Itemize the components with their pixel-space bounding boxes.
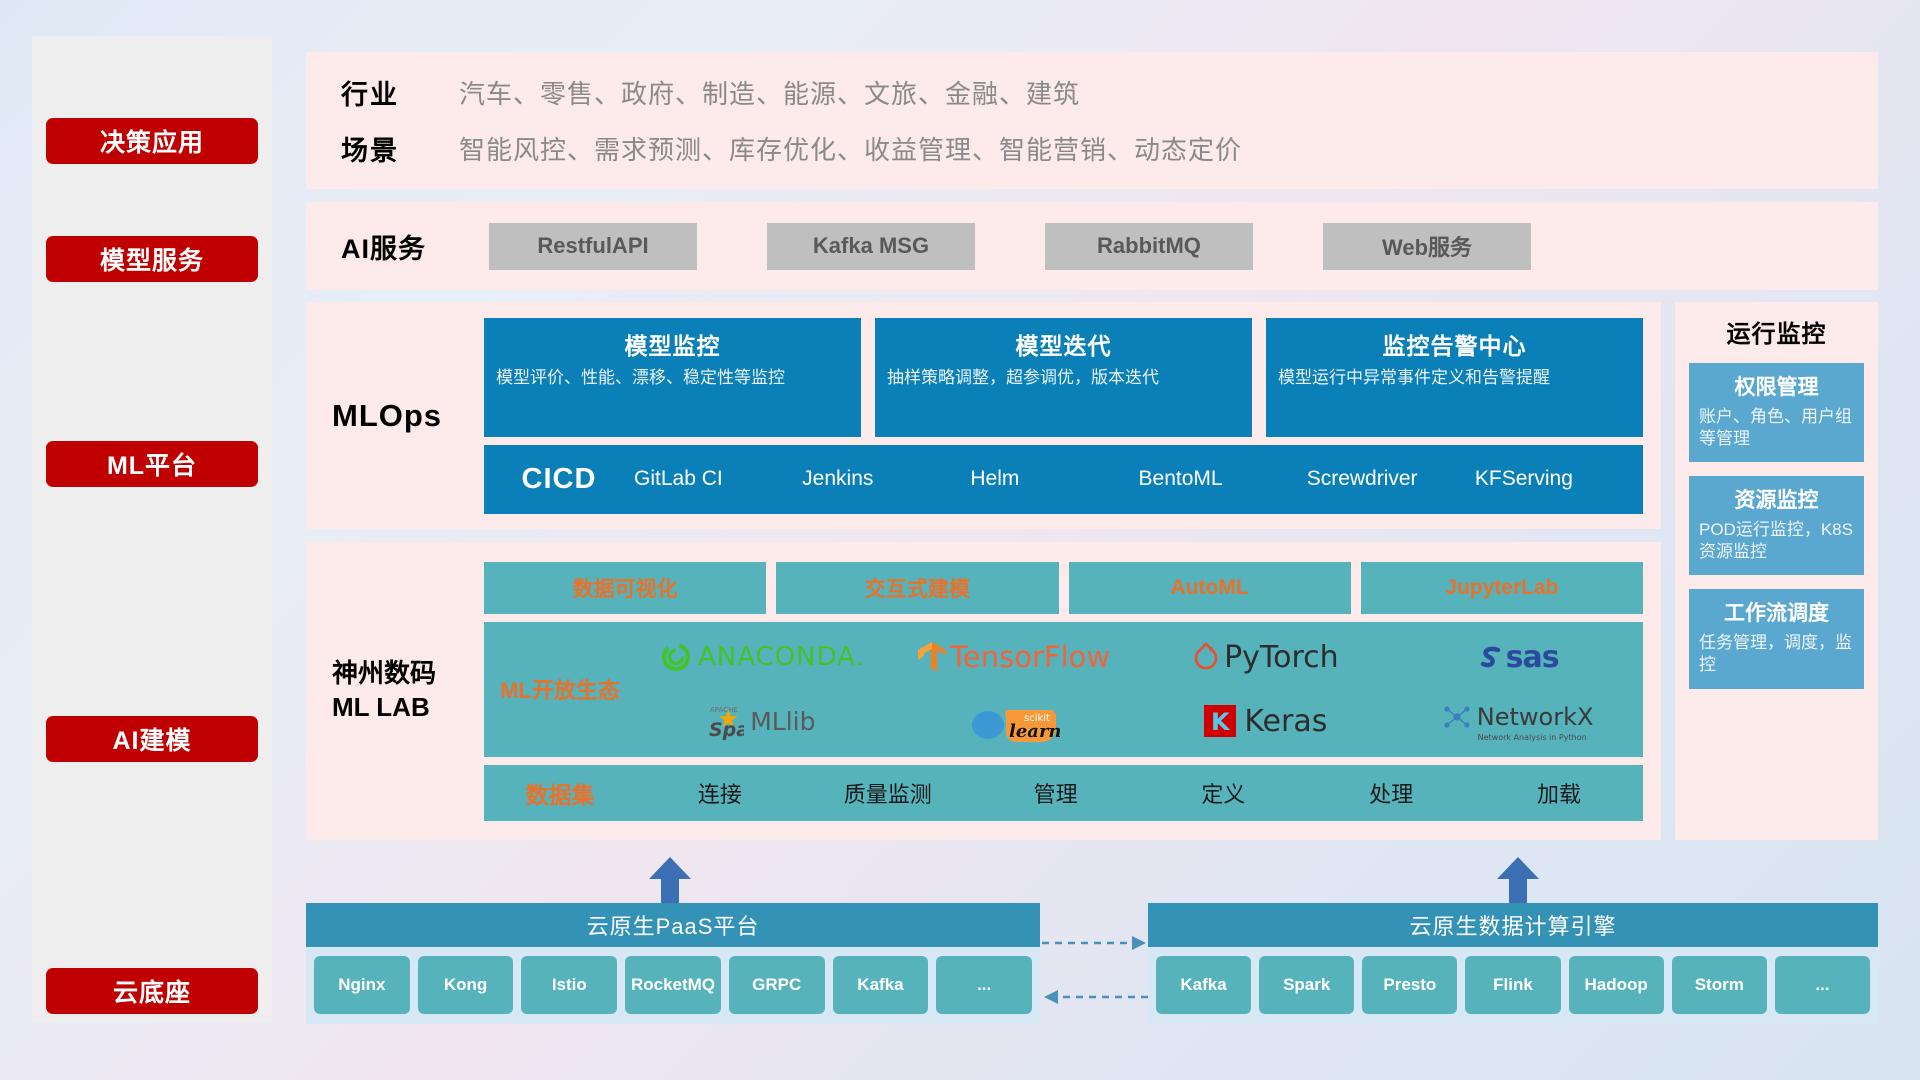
dataset-item[interactable]: 加载 [1475,777,1643,809]
ml-ecosystem-row: ML开放生态 ANACONDA. TensorFlow [484,622,1643,757]
mlops-card-title: 模型监控 [496,327,849,361]
dataset-item[interactable]: 定义 [1139,777,1307,809]
svg-text:APACHE: APACHE [710,706,738,714]
bidirectional-dashed-arrows [1040,925,1150,1025]
ml-ecosystem-logos: ANACONDA. TensorFlow PyTorch sas [636,626,1643,752]
stage-pill-decision[interactable]: 决策应用 [46,118,258,164]
ai-service-chip[interactable]: RabbitMQ [1045,223,1253,270]
decision-application-band: 行业 汽车、零售、政府、制造、能源、文旅、金融、建筑 场景 智能风控、需求预测、… [306,52,1878,189]
tensorflow-logo: TensorFlow [888,626,1140,688]
sas-logo-text: sas [1506,640,1559,675]
cloud-paas-chip-list: Nginx Kong Istio RocketMQ GRPC Kafka ... [306,947,1040,1024]
cicd-tool[interactable]: BentoML [1139,467,1307,491]
cicd-tool[interactable]: Screwdriver [1307,467,1475,491]
mlops-card-desc: 抽样策略调整，超参调优，版本迭代 [887,367,1240,390]
networkx-logo-text: NetworkX [1477,703,1594,731]
cloud-compute-chip-list: Kafka Spark Presto Flink Hadoop Storm ..… [1148,947,1878,1024]
cloud-paas-title: 云原生PaaS平台 [306,903,1040,947]
logo-line-bottom: APACHE Spark MLlib scikit learn [636,690,1643,752]
cloud-chip[interactable]: Storm [1672,956,1767,1014]
cloud-chip[interactable]: ... [936,956,1032,1014]
cicd-label: CICD [484,463,634,496]
stage-pill-ml-platform[interactable]: ML平台 [46,441,258,487]
anaconda-logo-text: ANACONDA. [698,642,865,672]
cloud-chip[interactable]: Istio [521,956,617,1014]
scenario-value: 智能风控、需求预测、库存优化、收益管理、智能营销、动态定价 [459,130,1242,167]
cloud-paas-platform: 云原生PaaS平台 Nginx Kong Istio RocketMQ GRPC… [306,903,1040,1024]
ml-lab-label: 神州数码 ML LAB [332,657,484,725]
keras-logo: K Keras [1140,690,1392,752]
svg-text:Spark: Spark [709,719,744,741]
monitor-card-title: 权限管理 [1699,371,1854,401]
lab-tool-list: 数据可视化 交互式建模 AutoML JupyterLab [484,562,1643,614]
cloud-chip[interactable]: Nginx [314,956,410,1014]
monitor-card-desc: 任务管理，调度，监控 [1699,632,1854,676]
lab-tool[interactable]: 数据可视化 [484,562,766,614]
cloud-chip[interactable]: Hadoop [1569,956,1664,1014]
cicd-tool[interactable]: KFServing [1475,467,1643,491]
mllib-logo-text: MLlib [750,707,815,736]
cloud-data-compute-engine: 云原生数据计算引擎 Kafka Spark Presto Flink Hadoo… [1148,903,1878,1024]
mlops-card[interactable]: 模型迭代 抽样策略调整，超参调优，版本迭代 [875,318,1252,437]
mlops-card-list: 模型监控 模型评价、性能、漂移、稳定性等监控 模型迭代 抽样策略调整，超参调优，… [484,318,1643,437]
cloud-chip[interactable]: Kafka [1156,956,1251,1014]
stage-pill-label: AI建模 [112,721,191,757]
cicd-tool[interactable]: Jenkins [802,467,970,491]
runtime-monitor-title: 运行监控 [1689,314,1864,349]
ml-lab-label-line1: 神州数码 [332,657,484,691]
lab-tool[interactable]: AutoML [1069,562,1351,614]
networkx-logo: NetworkX Network Analysis in Python [1391,690,1643,752]
stage-pill-label: 云底座 [113,973,191,1009]
scenario-row: 场景 智能风控、需求预测、库存优化、收益管理、智能营销、动态定价 [341,121,1878,177]
monitor-card[interactable]: 权限管理 账户、角色、用户组等管理 [1689,363,1864,462]
mlops-card-desc: 模型评价、性能、漂移、稳定性等监控 [496,367,849,390]
logo-line-top: ANACONDA. TensorFlow PyTorch sas [636,626,1643,688]
sas-logo: sas [1391,626,1643,688]
dataset-item[interactable]: 管理 [972,777,1140,809]
stage-pill-cloud-base[interactable]: 云底座 [46,968,258,1014]
networkx-logo-tagline: Network Analysis in Python [1478,733,1587,742]
anaconda-logo: ANACONDA. [636,626,888,688]
lab-tool[interactable]: 交互式建模 [776,562,1058,614]
dataset-item[interactable]: 连接 [636,777,804,809]
monitor-card-title: 工作流调度 [1699,597,1854,627]
cicd-bar: CICD GitLab CI Jenkins Helm BentoML Scre… [484,445,1643,514]
scikit-learn-logo: scikit learn [888,690,1140,752]
mlops-card-desc: 模型运行中异常事件定义和告警提醒 [1278,367,1631,390]
svg-text:learn: learn [1009,721,1060,742]
mlops-card[interactable]: 模型监控 模型评价、性能、漂移、稳定性等监控 [484,318,861,437]
monitor-card[interactable]: 资源监控 POD运行监控，K8S资源监控 [1689,476,1864,575]
cicd-tool-list: GitLab CI Jenkins Helm BentoML Screwdriv… [634,467,1643,491]
keras-logo-text: Keras [1244,704,1327,739]
stage-pill-model-service[interactable]: 模型服务 [46,236,258,282]
tensorflow-logo-text: TensorFlow [950,640,1110,674]
dataset-label: 数据集 [484,776,636,810]
mlops-content: 模型监控 模型评价、性能、漂移、稳定性等监控 模型迭代 抽样策略调整，超参调优，… [484,318,1661,514]
cloud-chip[interactable]: Flink [1465,956,1560,1014]
industry-key: 行业 [341,73,459,112]
ai-service-chip-list: RestfulAPI Kafka MSG RabbitMQ Web服务 [489,223,1531,270]
lab-tool[interactable]: JupyterLab [1361,562,1643,614]
monitor-card-desc: POD运行监控，K8S资源监控 [1699,519,1854,563]
ai-service-label: AI服务 [341,227,459,266]
cloud-chip[interactable]: GRPC [729,956,825,1014]
ml-lab-content: 数据可视化 交互式建模 AutoML JupyterLab ML开放生态 ANA… [484,562,1661,821]
industry-value: 汽车、零售、政府、制造、能源、文旅、金融、建筑 [459,74,1080,111]
monitor-card-title: 资源监控 [1699,484,1854,514]
stage-column: 决策应用 模型服务 ML平台 AI建模 [32,36,272,1022]
dataset-item[interactable]: 处理 [1307,777,1475,809]
pytorch-logo-text: PyTorch [1224,640,1339,675]
runtime-monitor-column: 运行监控 权限管理 账户、角色、用户组等管理 资源监控 POD运行监控，K8S资… [1675,302,1878,840]
pytorch-logo: PyTorch [1140,626,1392,688]
ai-service-chip[interactable]: Web服务 [1323,223,1531,270]
ai-service-chip[interactable]: Kafka MSG [767,223,975,270]
mlops-card[interactable]: 监控告警中心 模型运行中异常事件定义和告警提醒 [1266,318,1643,437]
cicd-tool[interactable]: Helm [970,467,1138,491]
ai-service-chip[interactable]: RestfulAPI [489,223,697,270]
mlops-label: MLOps [332,398,484,434]
cloud-chip[interactable]: Kafka [833,956,929,1014]
mlops-card-title: 监控告警中心 [1278,327,1631,361]
stage-pill-label: 模型服务 [100,241,204,277]
stage-pill-label: 决策应用 [100,123,204,159]
industry-row: 行业 汽车、零售、政府、制造、能源、文旅、金融、建筑 [341,65,1878,121]
monitor-card[interactable]: 工作流调度 任务管理，调度，监控 [1689,589,1864,688]
cloud-chip[interactable]: Spark [1259,956,1354,1014]
ml-ecosystem-label: ML开放生态 [484,673,636,705]
svg-text:K: K [1211,708,1231,736]
mlops-card-title: 模型迭代 [887,327,1240,361]
monitor-card-desc: 账户、角色、用户组等管理 [1699,406,1854,450]
dataset-row: 数据集 连接 质量监测 管理 定义 处理 加载 [484,765,1643,821]
scenario-key: 场景 [341,129,459,168]
cloud-chip[interactable]: Presto [1362,956,1457,1014]
stage-pill-label: ML平台 [107,446,197,482]
stage-pill-ai-modeling[interactable]: AI建模 [46,716,258,762]
spark-mllib-logo: APACHE Spark MLlib [636,690,888,752]
cloud-chip[interactable]: Kong [418,956,514,1014]
cloud-chip[interactable]: ... [1775,956,1870,1014]
cloud-compute-title: 云原生数据计算引擎 [1148,903,1878,947]
dataset-item[interactable]: 质量监测 [804,777,972,809]
ai-modeling-band: 神州数码 ML LAB 数据可视化 交互式建模 AutoML JupyterLa… [306,542,1661,840]
ml-lab-label-line2: ML LAB [332,691,484,725]
mlops-band: MLOps 模型监控 模型评价、性能、漂移、稳定性等监控 模型迭代 抽样策略调整… [306,302,1661,529]
cicd-tool[interactable]: GitLab CI [634,467,802,491]
cloud-chip[interactable]: RocketMQ [625,956,721,1014]
ai-service-band: AI服务 RestfulAPI Kafka MSG RabbitMQ Web服务 [306,202,1878,290]
dataset-item-list: 连接 质量监测 管理 定义 处理 加载 [636,777,1643,809]
